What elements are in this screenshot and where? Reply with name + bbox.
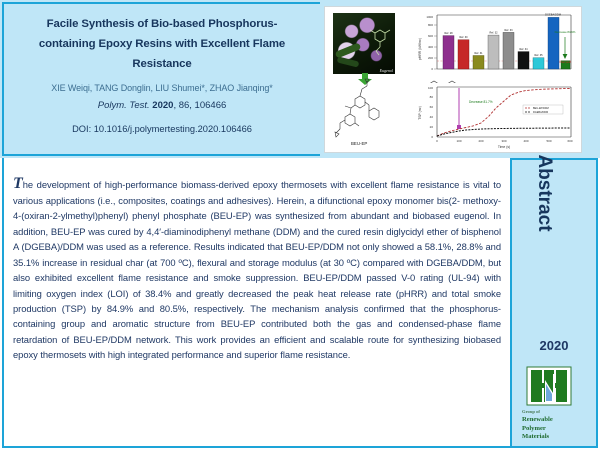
svg-text:400: 400 <box>523 139 528 143</box>
svg-text:Ref. 32: Ref. 32 <box>489 32 498 35</box>
svg-text:200: 200 <box>428 56 433 60</box>
journal-year: 2020 <box>152 100 173 111</box>
journal-volume-pages: , 86, 106466 <box>173 100 226 111</box>
group-logo-caption: Group of Renewable Polymer Materials <box>522 408 596 442</box>
sidebar: Abstract 2020 Group of Renewable Polymer… <box>512 158 598 448</box>
group-logo-icon <box>526 366 572 406</box>
svg-text:Ref. 28: Ref. 28 <box>444 32 453 35</box>
logo-caption-line-3: Materials <box>522 433 549 440</box>
svg-text:Ref. 30: Ref. 30 <box>459 36 468 39</box>
sidebar-year: 2020 <box>512 338 596 353</box>
svg-text:400: 400 <box>428 45 433 49</box>
svg-text:20: 20 <box>430 125 434 129</box>
svg-text:40: 40 <box>430 115 434 119</box>
svg-text:800: 800 <box>428 23 433 27</box>
eugenol-photo: Eugenol <box>333 13 395 74</box>
header-band: Facile Synthesis of Bio-based Phosphorus… <box>0 0 600 158</box>
logo-caption-group: Group of <box>522 408 596 416</box>
page-title-line-1: Facile Synthesis of Bio-based Phosphorus… <box>16 14 308 34</box>
svg-text:200: 200 <box>478 139 483 143</box>
page-title-line-3: Resistance <box>16 54 308 74</box>
svg-text:300: 300 <box>501 139 506 143</box>
svg-text:600: 600 <box>567 139 572 143</box>
abstract-panel: The development of high-performance biom… <box>2 158 512 448</box>
tsp-legend-item-1: DGEBA/DDM <box>533 111 548 114</box>
eugenol-label: Eugenol <box>380 68 393 73</box>
svg-text:100: 100 <box>456 139 461 143</box>
phrr-y-axis-label: pHRR (kW/m²) <box>418 38 422 60</box>
svg-text:Ref. 34: Ref. 34 <box>519 48 528 51</box>
title-panel: Facile Synthesis of Bio-based Phosphorus… <box>2 2 320 156</box>
svg-text:80: 80 <box>430 95 434 99</box>
graphical-abstract: Eugenol <box>324 6 582 153</box>
poster-root: Facile Synthesis of Bio-based Phosphorus… <box>0 0 600 450</box>
tsp-legend: BEU-EP/DDM DGEBA/DDM <box>523 105 563 114</box>
tsp-legend-item-0: BEU-EP/DDM <box>533 107 549 110</box>
author-list: XIE Weiqi, TANG Donglin, LIU Shumei*, ZH… <box>14 83 310 93</box>
journal-citation: Polym. Test. 2020, 86, 106466 <box>14 100 310 111</box>
svg-text:60: 60 <box>430 105 434 109</box>
tsp-y-axis-label: TSP (m²) <box>418 106 422 120</box>
svg-text:Ref. 33: Ref. 33 <box>504 29 513 32</box>
bar-highlight-label: DGEBA/DDM <box>545 13 561 17</box>
logo-caption-line-2: Polymer <box>522 425 546 432</box>
eugenol-structure-icon <box>366 27 392 57</box>
tsp-x-axis-label: Time (s) <box>498 145 510 149</box>
phrr-bar-chart: 0 200 400 600 800 1000 pHRR (kW/m²) <box>411 11 577 77</box>
bar-char-label: Char yield <box>559 60 571 64</box>
leaf-shape-icon <box>337 56 360 67</box>
abstract-text: The development of high-performance biom… <box>13 176 501 362</box>
journal-name: Polym. Test. <box>98 100 150 111</box>
tsp-decrease-label: Decrease 81.7% <box>469 100 493 104</box>
beu-ep-scheme: BEU-EP <box>329 77 411 151</box>
svg-text:600: 600 <box>428 34 433 38</box>
logo-caption-line-1: Renewable <box>522 416 553 423</box>
bar-decrease-label: Decrease 84.9% <box>555 30 576 34</box>
svg-text:Ref. 31: Ref. 31 <box>474 52 483 55</box>
svg-text:100: 100 <box>428 86 433 90</box>
page-title-line-2: containing Epoxy Resins with Excellent F… <box>16 34 308 54</box>
beu-ep-label: BEU-EP <box>351 141 367 146</box>
svg-text:Ref. 35: Ref. 35 <box>534 54 543 57</box>
svg-text:1000: 1000 <box>426 15 433 19</box>
sidebar-section-label: Abstract <box>533 133 555 253</box>
page-title: Facile Synthesis of Bio-based Phosphorus… <box>16 14 308 74</box>
abstract-dropcap: T <box>13 175 23 192</box>
doi-link[interactable]: DOI: 10.1016/j.polymertesting.2020.10646… <box>14 124 310 134</box>
abstract-body: he development of high-performance bioma… <box>13 179 501 360</box>
